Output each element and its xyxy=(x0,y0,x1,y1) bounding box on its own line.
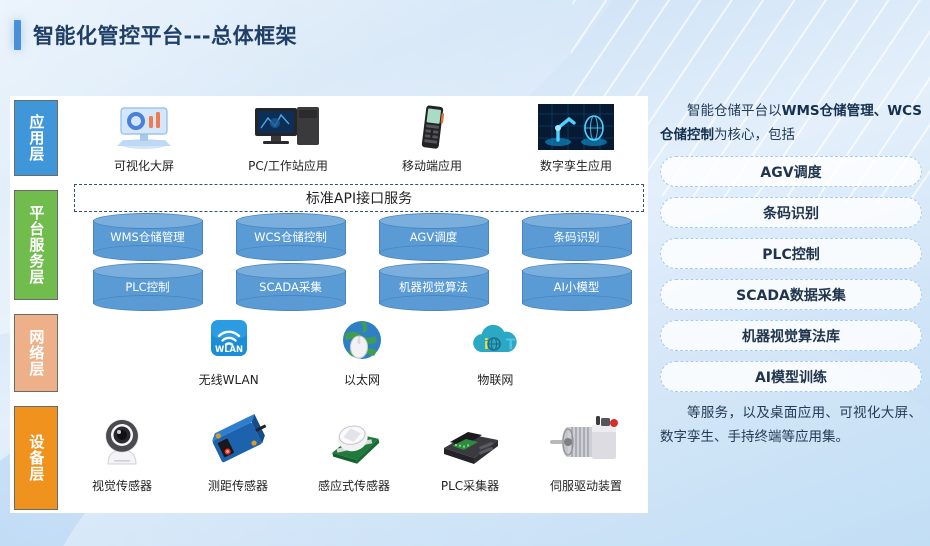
service-pill[interactable]: SCADA数据采集 xyxy=(660,279,922,310)
service-label: AGV调度 xyxy=(380,220,488,254)
service-pill[interactable]: 机器视觉算法库 xyxy=(660,320,922,351)
app-item-label: PC/工作站应用 xyxy=(248,157,328,174)
app-item-pc-workstation[interactable]: PC/工作站应用 xyxy=(216,104,360,174)
device-item-label: 视觉传感器 xyxy=(92,477,152,494)
net-item-wlan[interactable]: WLAN 无线WLAN xyxy=(162,318,295,388)
service-label: AI小模型 xyxy=(523,270,631,304)
summary-intro: 智能仓储平台以WMS仓储管理、WCS仓储控制为核心，包括 xyxy=(660,100,922,147)
service-cylinder: PLC控制 xyxy=(93,270,203,304)
digital-twin-icon xyxy=(538,104,614,150)
layer-char: 应用层 xyxy=(28,114,45,162)
app-item-label: 数字孪生应用 xyxy=(540,157,612,174)
servo-motor-icon xyxy=(546,414,626,470)
title-accent-bar xyxy=(14,20,21,50)
layer-tab-platform-service[interactable]: 平台服务层 xyxy=(14,190,58,300)
service-cylinder: WCS仓储控制 xyxy=(236,220,346,254)
svg-text:T: T xyxy=(506,337,516,353)
service-cell[interactable]: WCS仓储控制 xyxy=(219,220,362,254)
layer-tab-application[interactable]: 应用层 xyxy=(14,100,58,176)
application-layer-row: 可视化大屏 PC/工作站应用 xyxy=(72,104,648,174)
app-item-digital-twin[interactable]: 数字孪生应用 xyxy=(504,104,648,174)
summary-outro: 等服务，以及桌面应用、可视化大屏、数字孪生、手持终端等应用集。 xyxy=(660,402,922,449)
service-cylinder: WMS仓储管理 xyxy=(93,220,203,254)
service-cell[interactable]: 条码识别 xyxy=(505,220,648,254)
svg-text:WLAN: WLAN xyxy=(215,344,243,354)
service-cylinder: AI小模型 xyxy=(522,270,632,304)
summary-panel: 智能仓储平台以WMS仓储管理、WCS仓储控制为核心，包括 AGV调度 条码识别 … xyxy=(660,100,922,450)
page-title: 智能化管控平台---总体框架 xyxy=(33,20,297,50)
device-item-vision-sensor[interactable]: 视觉传感器 xyxy=(64,414,180,494)
service-pill-list: AGV调度 条码识别 PLC控制 SCADA数据采集 机器视觉算法库 AI模型训… xyxy=(660,156,922,392)
platform-service-row: WMS仓储管理 WCS仓储控制 AGV调度 条码识别 xyxy=(76,220,648,254)
app-item-mobile[interactable]: 移动端应用 xyxy=(360,104,504,174)
desktop-computer-icon xyxy=(253,104,323,150)
service-label: SCADA采集 xyxy=(237,270,345,304)
service-pill[interactable]: AI模型训练 xyxy=(660,361,922,392)
api-bar-label: 标准API接口服务 xyxy=(306,188,412,208)
plc-collector-icon xyxy=(438,414,502,470)
platform-service-grid: WMS仓储管理 WCS仓储控制 AGV调度 条码识别 PLC控制 SCADA采集… xyxy=(76,220,648,304)
service-cylinder: 机器视觉算法 xyxy=(379,270,489,304)
dashboard-screen-icon xyxy=(113,104,175,150)
service-label: 机器视觉算法 xyxy=(380,270,488,304)
device-item-plc-collector[interactable]: PLC采集器 xyxy=(412,414,528,494)
device-item-pir-sensor[interactable]: 感应式传感器 xyxy=(296,414,412,494)
service-label: WCS仓储控制 xyxy=(237,220,345,254)
service-pill[interactable]: PLC控制 xyxy=(660,238,922,269)
device-item-label: 感应式传感器 xyxy=(318,477,390,494)
service-cell[interactable]: PLC控制 xyxy=(76,270,219,304)
net-item-iot[interactable]: i T 物联网 xyxy=(429,318,562,388)
platform-service-row: PLC控制 SCADA采集 机器视觉算法 AI小模型 xyxy=(76,270,648,304)
service-cell[interactable]: AI小模型 xyxy=(505,270,648,304)
distance-sensor-icon xyxy=(207,414,269,470)
device-item-label: 伺服驱动装置 xyxy=(550,477,622,494)
wlan-icon: WLAN xyxy=(207,318,251,364)
service-cylinder: SCADA采集 xyxy=(236,270,346,304)
service-cell[interactable]: WMS仓储管理 xyxy=(76,220,219,254)
vision-camera-icon xyxy=(94,414,150,470)
device-item-distance-sensor[interactable]: 测距传感器 xyxy=(180,414,296,494)
service-label: 条码识别 xyxy=(523,220,631,254)
layer-char: 设备层 xyxy=(28,434,45,482)
layer-tab-device[interactable]: 设备层 xyxy=(14,406,58,510)
layer-tab-network[interactable]: 网络层 xyxy=(14,314,58,392)
app-item-label: 可视化大屏 xyxy=(114,157,174,174)
page-header: 智能化管控平台---总体框架 xyxy=(14,20,297,50)
service-cell[interactable]: SCADA采集 xyxy=(219,270,362,304)
service-cell[interactable]: AGV调度 xyxy=(362,220,505,254)
layer-char: 网络层 xyxy=(28,329,45,377)
layer-char: 平台服务层 xyxy=(28,205,45,285)
app-item-label: 移动端应用 xyxy=(402,157,462,174)
device-layer-row: 视觉传感器 测距传感器 xyxy=(64,414,648,494)
net-item-label: 无线WLAN xyxy=(199,371,259,388)
panel-content: 可视化大屏 PC/工作站应用 xyxy=(62,96,648,513)
device-item-label: 测距传感器 xyxy=(208,477,268,494)
service-label: WMS仓储管理 xyxy=(94,220,202,254)
iot-cloud-icon: i T xyxy=(467,318,523,364)
net-item-ethernet[interactable]: 以太网 xyxy=(295,318,428,388)
ethernet-globe-icon xyxy=(338,318,386,364)
net-item-label: 物联网 xyxy=(477,371,513,388)
network-layer-row: WLAN 无线WLAN 以太网 xyxy=(162,318,562,388)
service-cylinder: 条码识别 xyxy=(522,220,632,254)
net-item-label: 以太网 xyxy=(344,371,380,388)
handheld-terminal-icon xyxy=(415,104,449,150)
intro-prefix: 智能仓储平台以 xyxy=(687,103,782,119)
app-item-dashboard[interactable]: 可视化大屏 xyxy=(72,104,216,174)
device-item-label: PLC采集器 xyxy=(441,477,499,494)
intro-suffix: 为核心，包括 xyxy=(714,127,795,143)
service-cell[interactable]: 机器视觉算法 xyxy=(362,270,505,304)
service-label: PLC控制 xyxy=(94,270,202,304)
device-item-servo-motor[interactable]: 伺服驱动装置 xyxy=(528,414,644,494)
service-pill[interactable]: AGV调度 xyxy=(660,156,922,187)
service-pill[interactable]: 条码识别 xyxy=(660,197,922,228)
pir-sensor-icon xyxy=(323,414,385,470)
service-cylinder: AGV调度 xyxy=(379,220,489,254)
standard-api-bar[interactable]: 标准API接口服务 xyxy=(74,184,644,212)
